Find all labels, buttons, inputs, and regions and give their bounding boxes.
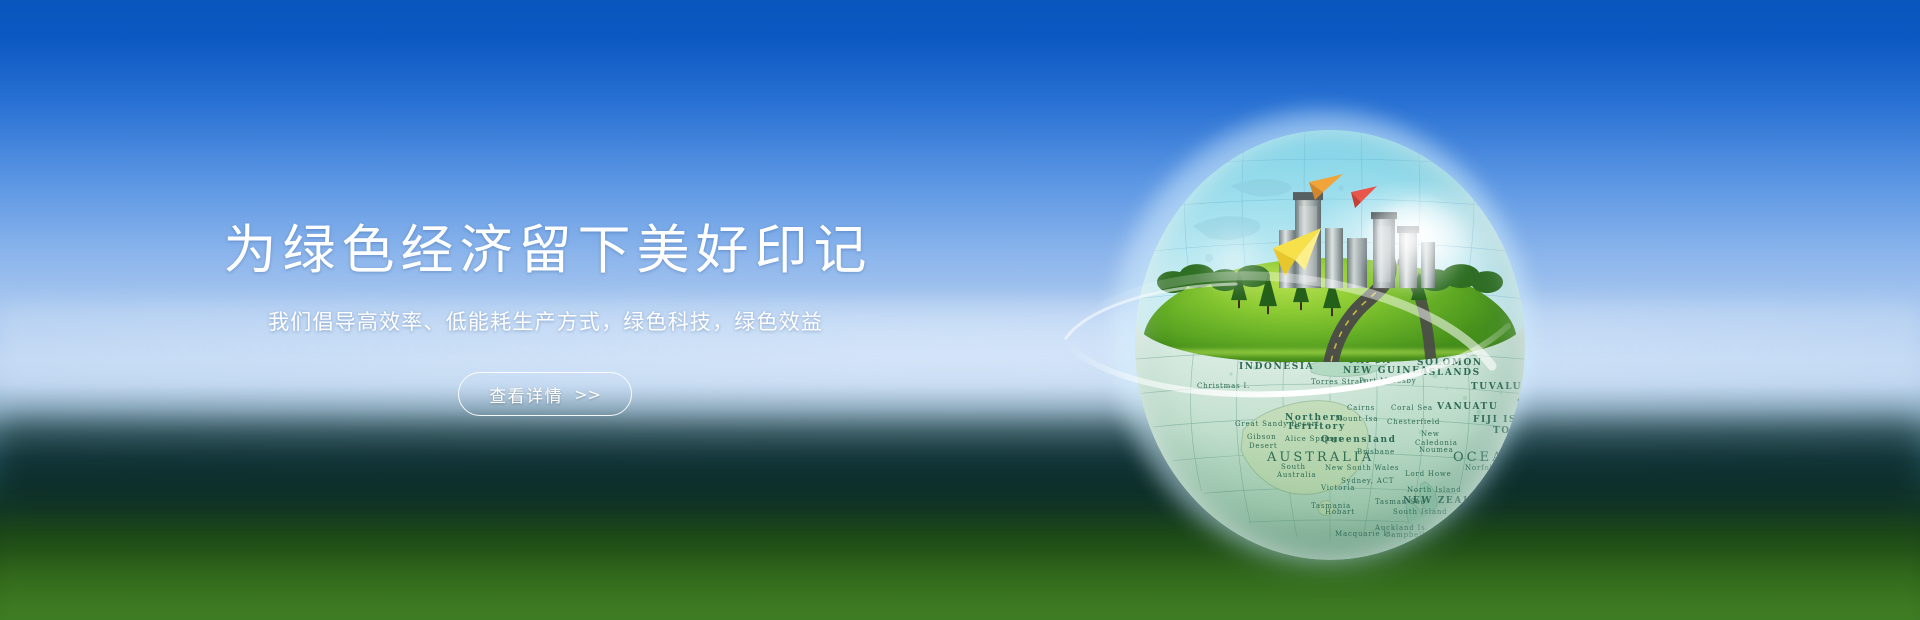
view-details-button[interactable]: 查看详情 >>: [458, 372, 632, 416]
background-grass-field: [0, 500, 1920, 620]
globe-orbit-swoosh: [1040, 110, 1540, 580]
hero-banner: North Pacific OceanPHILIPPINESPhilippine…: [0, 0, 1920, 620]
hero-subtitle: 我们倡导高效率、低能耗生产方式，绿色科技，绿色效益: [0, 306, 1090, 336]
globe-illustration: North Pacific OceanPHILIPPINESPhilippine…: [1040, 110, 1540, 580]
chevron-right-double-icon: >>: [574, 385, 601, 404]
cta-label: 查看详情: [489, 382, 563, 407]
page-title: 为绿色经济留下美好印记: [0, 218, 1090, 284]
hero-copy-block: 为绿色经济留下美好印记 我们倡导高效率、低能耗生产方式，绿色科技，绿色效益 查看…: [0, 218, 1090, 416]
cta-container: 查看详情 >>: [0, 372, 1090, 416]
